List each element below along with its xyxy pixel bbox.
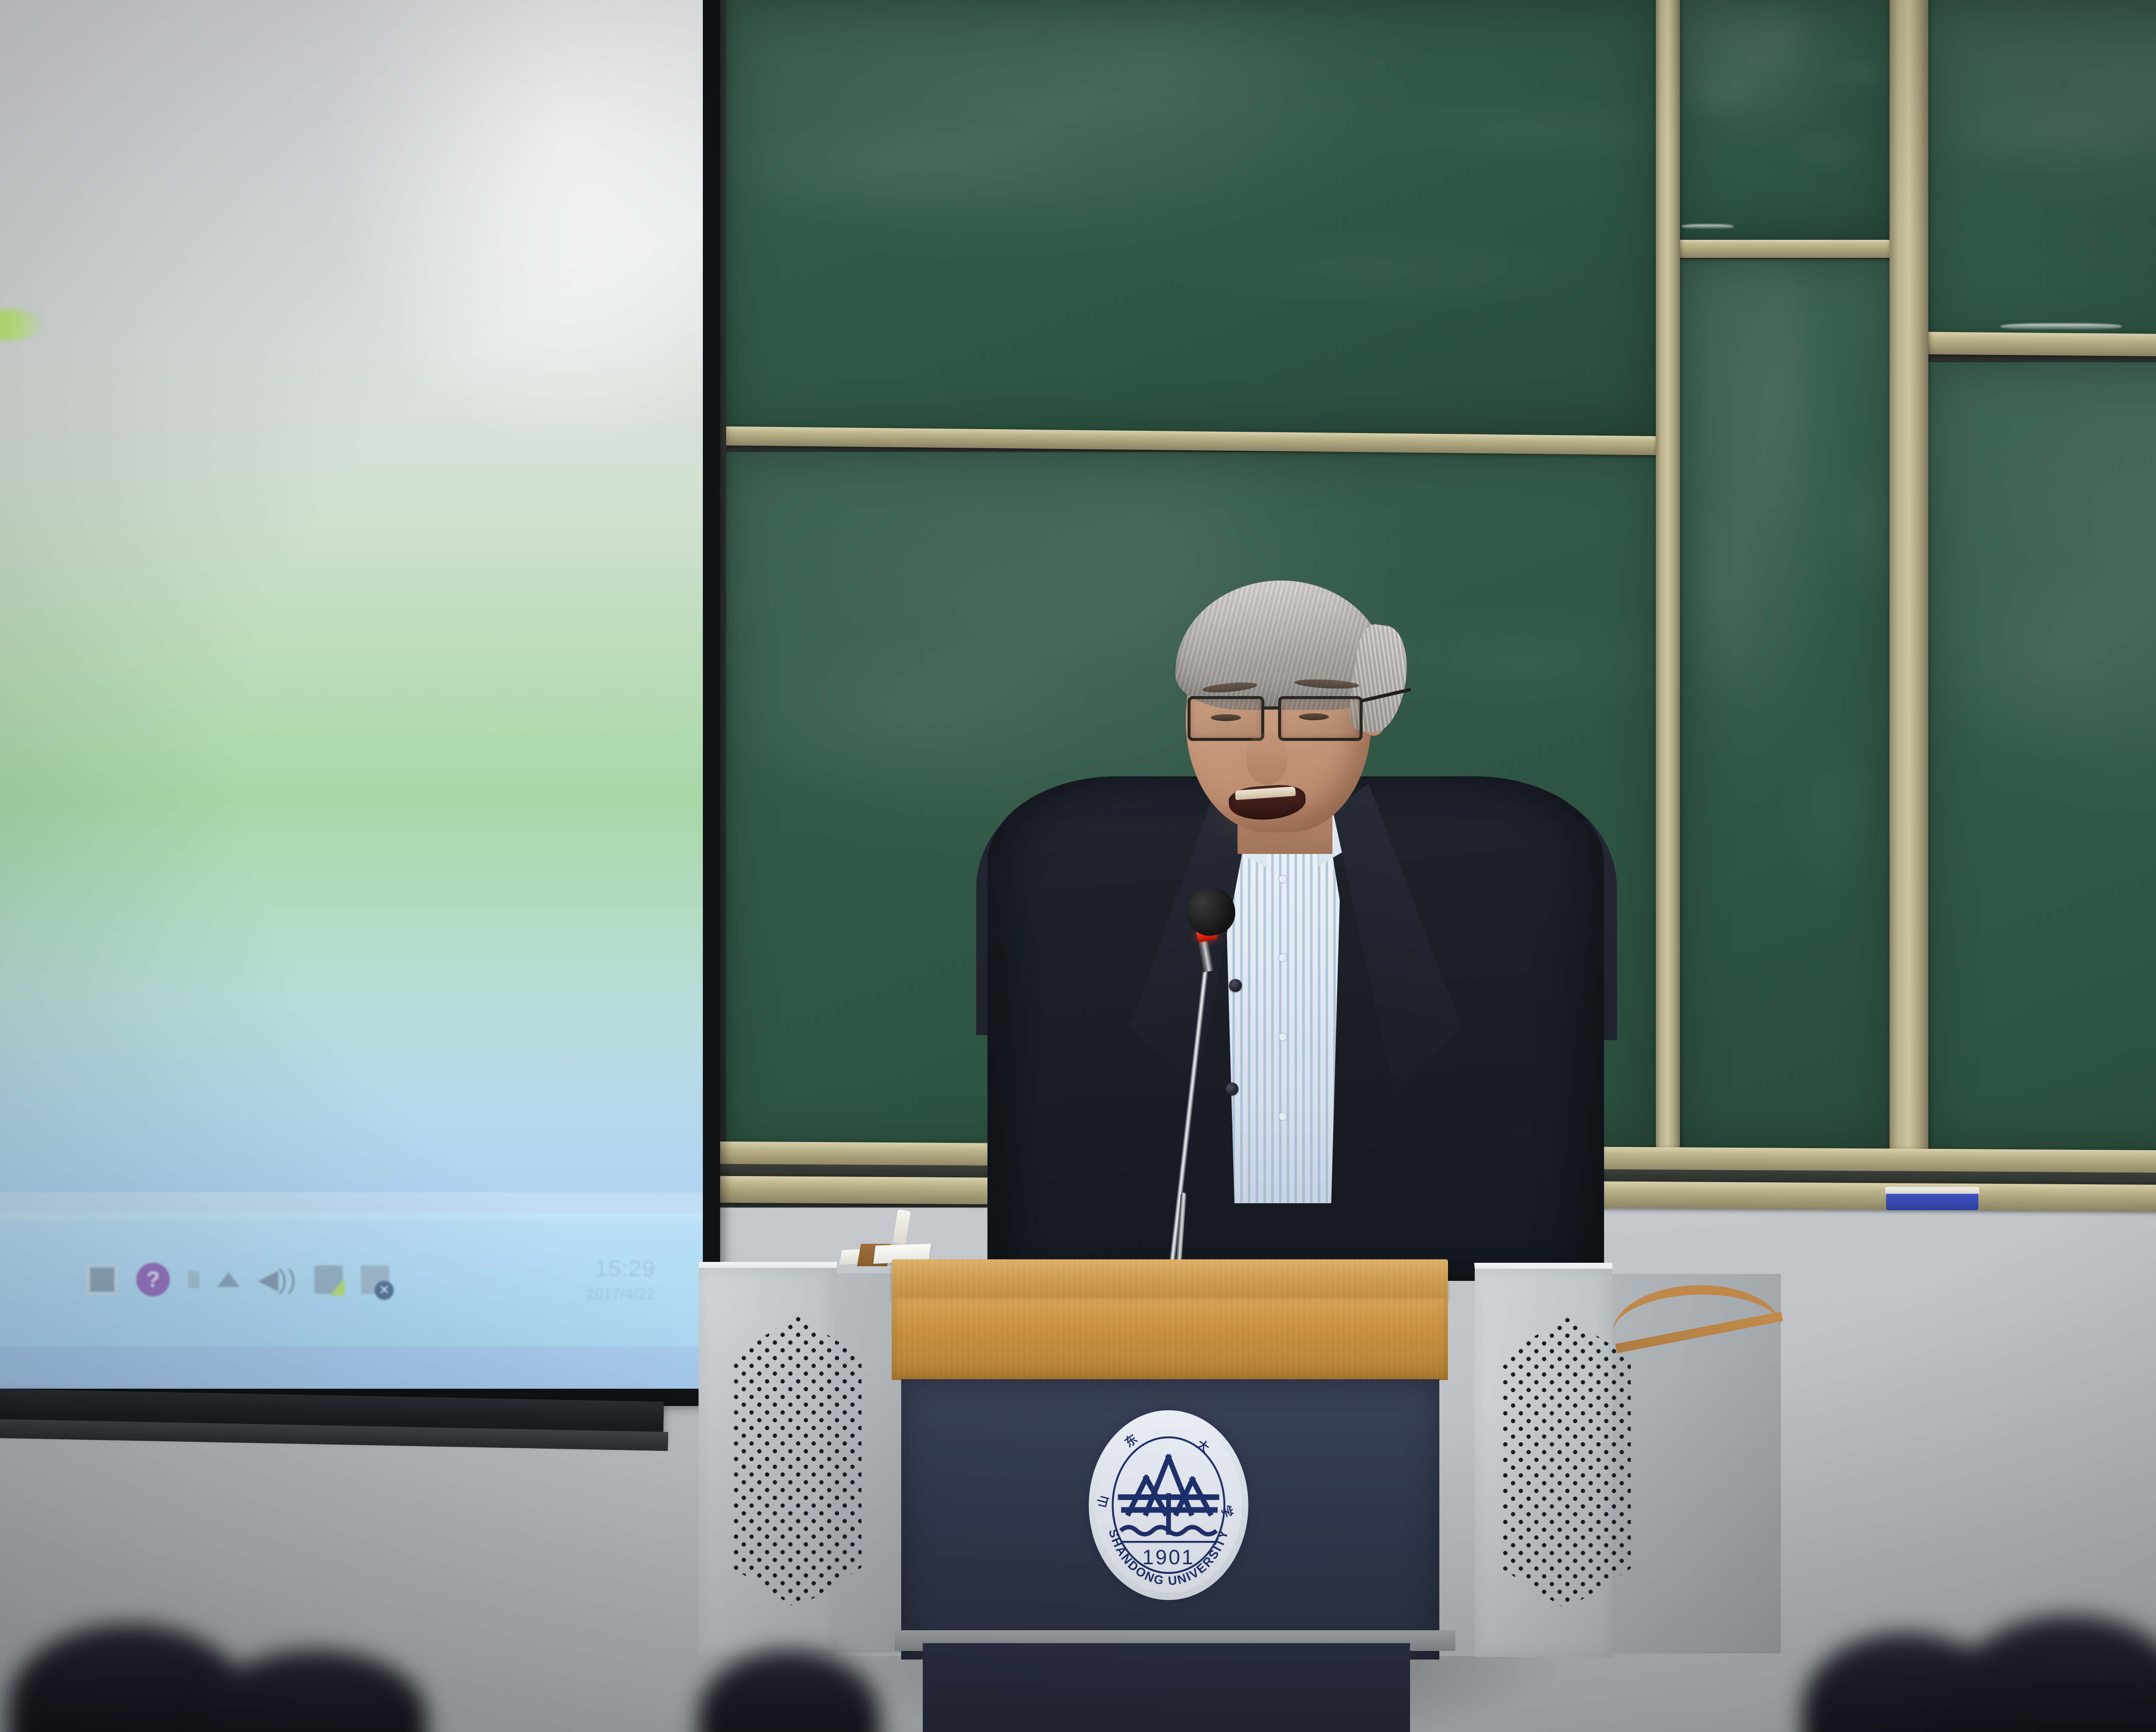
speaker-icon[interactable]: ◀)) (258, 1264, 296, 1296)
projection-screen[interactable]: ? ◀)) 15:29 2017/4/22 (0, 0, 703, 1389)
chalk-dust-mark (2001, 323, 2122, 329)
lectern: 东 大 山 学 1901 SHANDONG U (699, 1242, 1884, 1732)
error-icon[interactable] (361, 1265, 389, 1294)
lens-right (1278, 696, 1363, 741)
speaker-grille-left (732, 1315, 862, 1609)
chalkboard-rail-upper-right (1897, 332, 2156, 360)
lectern-lower-panel (923, 1643, 1410, 1732)
shirt-button (1279, 1033, 1287, 1041)
chalkboard-divider-right (1890, 0, 1928, 1164)
small-tray-icon[interactable] (188, 1271, 199, 1288)
chalk-dust-mark (1682, 224, 1733, 229)
nose (1246, 733, 1288, 785)
gooseneck-microphone[interactable] (1164, 895, 1242, 1274)
lens-left (1188, 696, 1264, 741)
projected-taskbar[interactable]: ? ◀)) 15:29 2017/4/22 (0, 1212, 703, 1347)
shirt-button (1279, 1113, 1287, 1120)
triangle-icon[interactable] (217, 1272, 240, 1287)
system-tray[interactable]: ? ◀)) (86, 1263, 389, 1296)
chalkboard-panel-lower-mid (1678, 259, 1894, 1151)
teeth (1235, 786, 1296, 800)
chalkboard-panel-upper-left (724, 0, 1656, 436)
chalkboard-eraser[interactable] (1885, 1187, 1979, 1211)
monitor-icon[interactable] (86, 1264, 118, 1296)
microphone-neck (1198, 941, 1213, 972)
clock-time: 15:29 (586, 1256, 655, 1282)
speaker-grille-right (1501, 1316, 1631, 1610)
shirt-button (1279, 954, 1287, 961)
lecture-hall-photo: ? ◀)) 15:29 2017/4/22 (0, 0, 2156, 1732)
help-icon[interactable]: ? (136, 1263, 170, 1296)
microphone-stem (1168, 959, 1210, 1273)
chalkboard-rail-upper-mid (1676, 240, 1900, 258)
glasses-bridge (1264, 706, 1281, 709)
projector-hotspot (317, 0, 703, 464)
taskbar-clock[interactable]: 15:29 2017/4/22 (586, 1256, 655, 1303)
clock-date: 2017/4/22 (586, 1286, 655, 1303)
chalkboard-panel-upper-mid (1678, 0, 1894, 242)
chalkboard-divider-left (1656, 0, 1680, 1164)
shandong-university-emblem: 东 大 山 学 1901 SHANDONG U (1089, 1410, 1248, 1600)
shirt-button (1279, 875, 1287, 883)
lectern-wood-face (892, 1298, 1448, 1380)
presenter (987, 591, 1604, 1281)
network-icon[interactable] (314, 1265, 343, 1294)
svg-text:1901: 1901 (1142, 1546, 1195, 1569)
chalkboard-panel-upper-right (1926, 0, 2156, 345)
chalkboard-panel-lower-right (1926, 362, 2156, 1151)
green-light-streak (0, 310, 44, 341)
lectern-wood-top (892, 1259, 1448, 1301)
